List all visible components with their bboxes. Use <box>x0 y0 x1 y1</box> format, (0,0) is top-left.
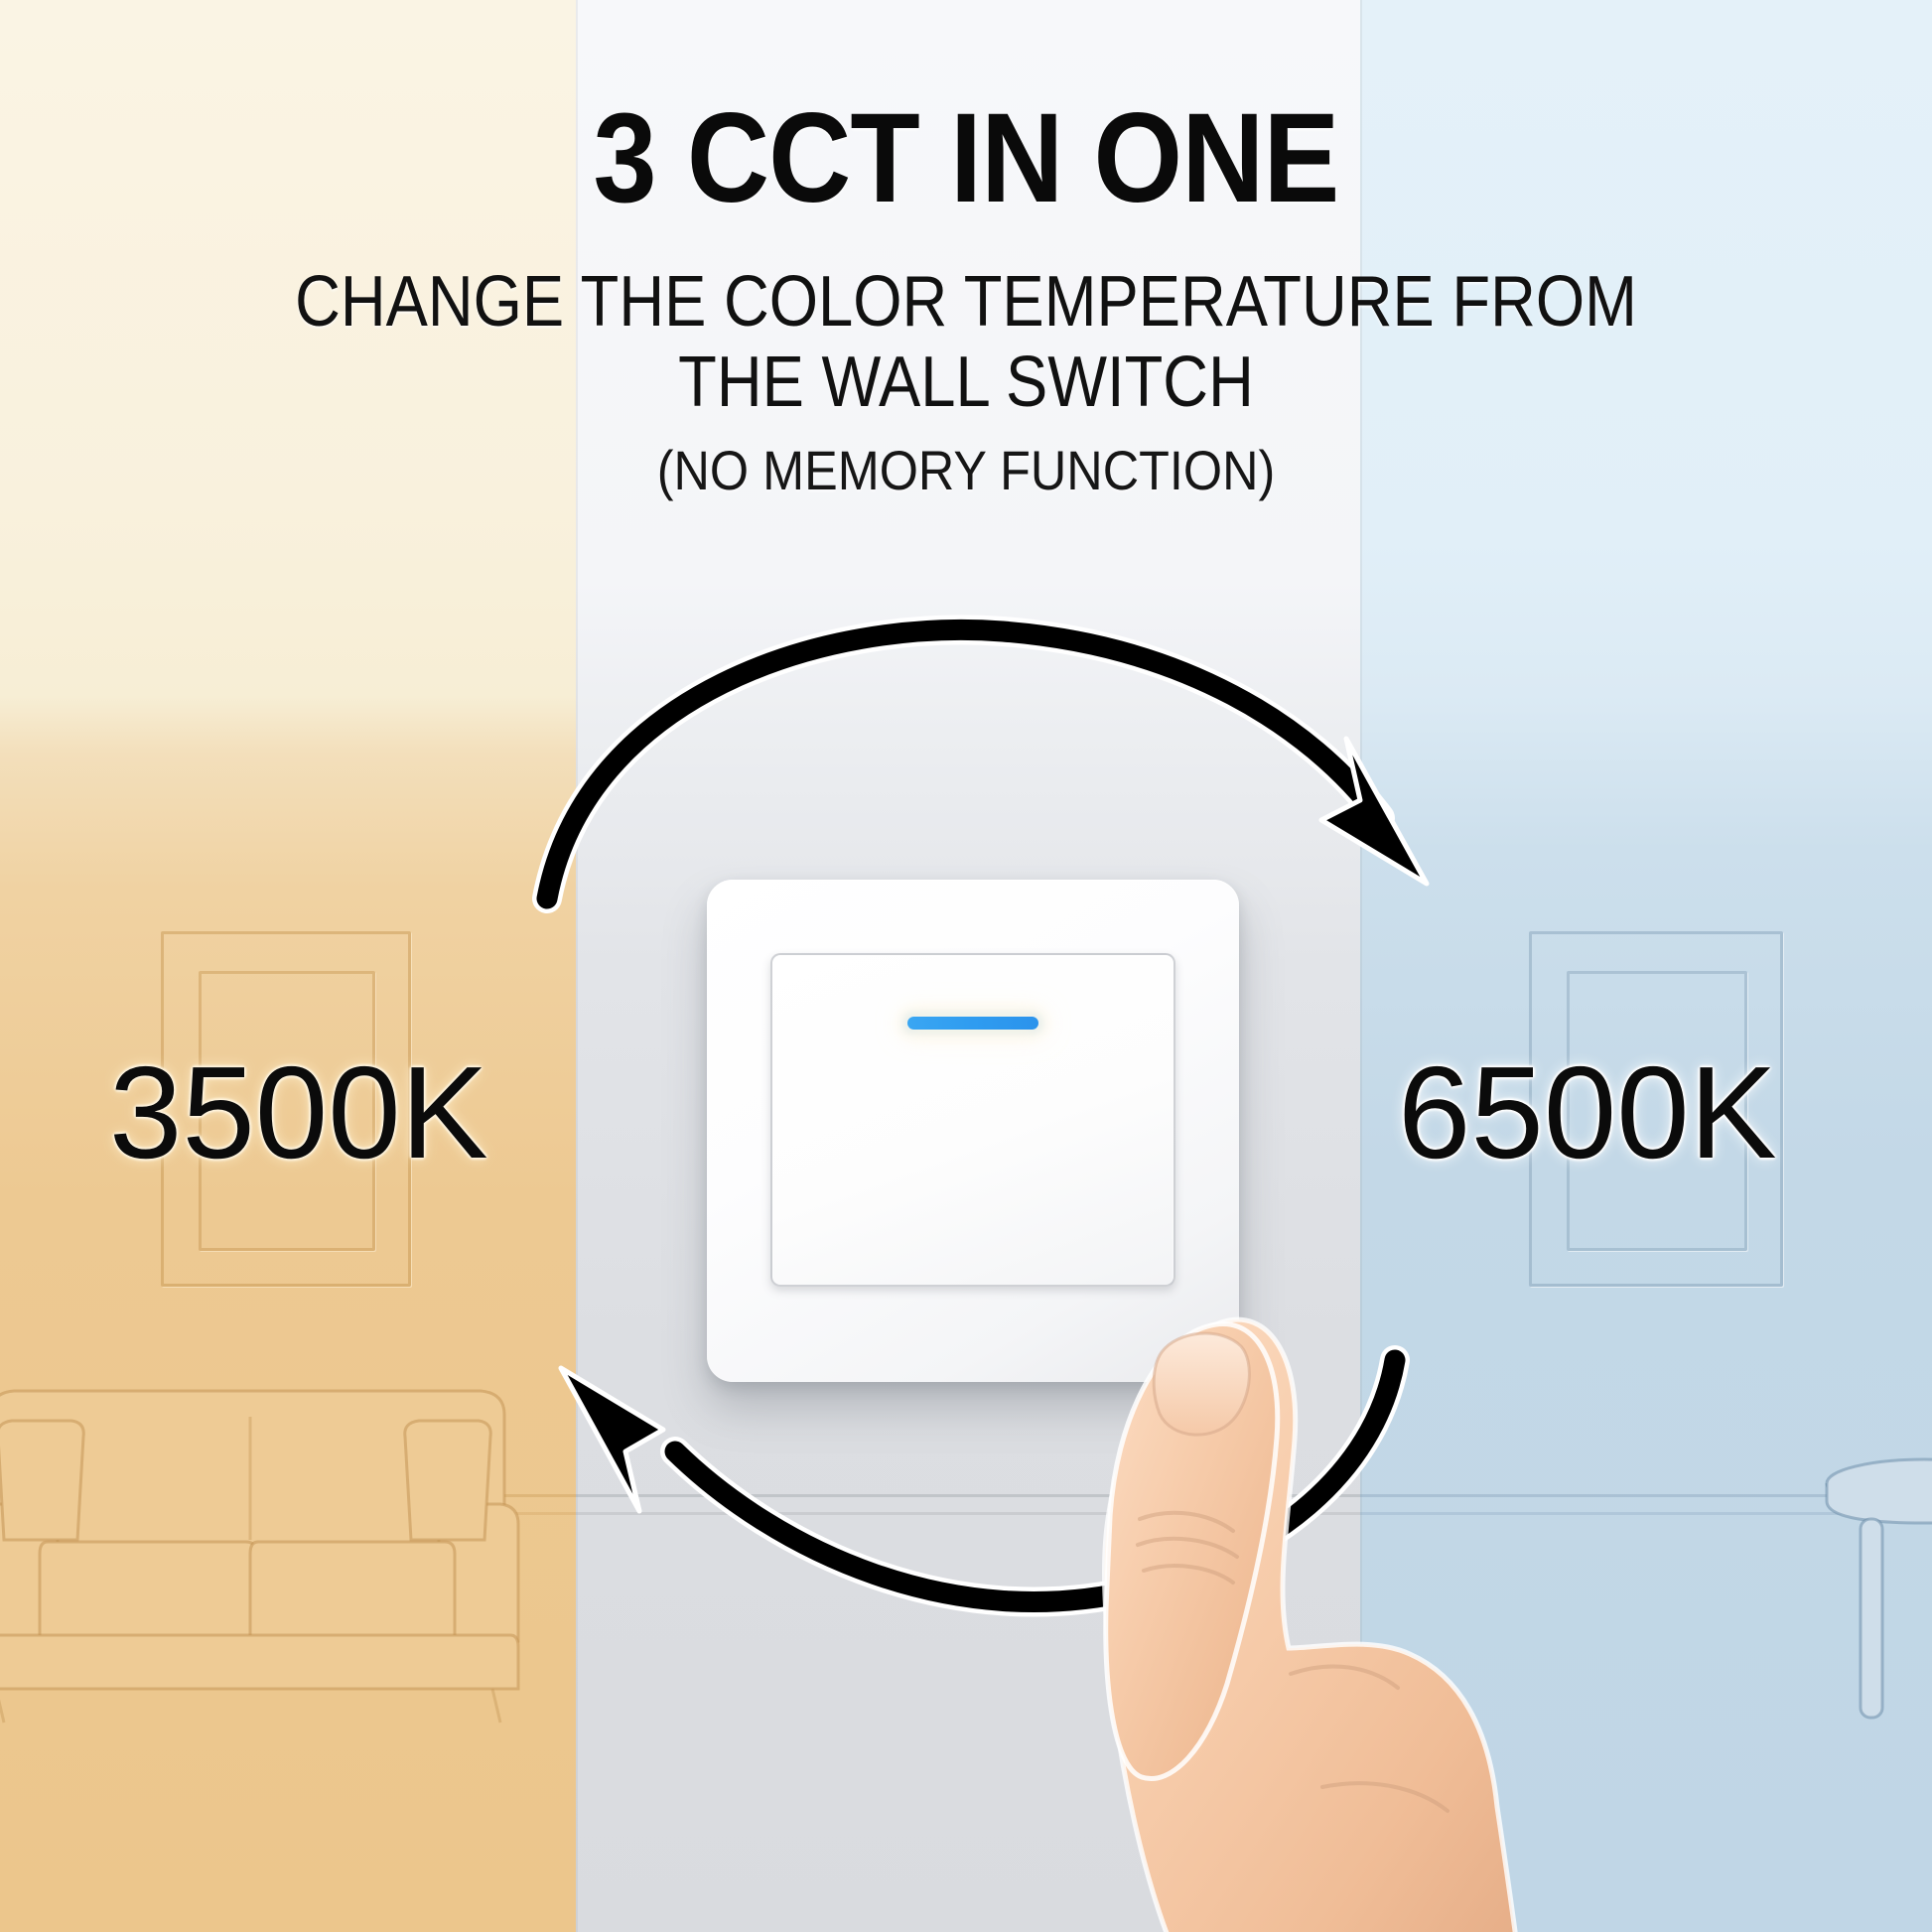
product-infographic: 3500K 6500K <box>0 0 1932 1932</box>
subtitle-line-1: CHANGE THE COLOR TEMPERATURE FROM <box>116 222 1816 343</box>
led-indicator-icon <box>907 1017 1038 1030</box>
hand-pressing-switch <box>874 1092 1608 1932</box>
warm-temperature-label: 3500K <box>109 1047 488 1178</box>
memory-function-note: (NO MEMORY FUNCTION) <box>96 424 1835 501</box>
subtitle-line-2: THE WALL SWITCH <box>116 343 1816 423</box>
headings-block: 3 CCT IN ONE CHANGE THE COLOR TEMPERATUR… <box>0 0 1932 500</box>
page-title: 3 CCT IN ONE <box>96 0 1835 222</box>
